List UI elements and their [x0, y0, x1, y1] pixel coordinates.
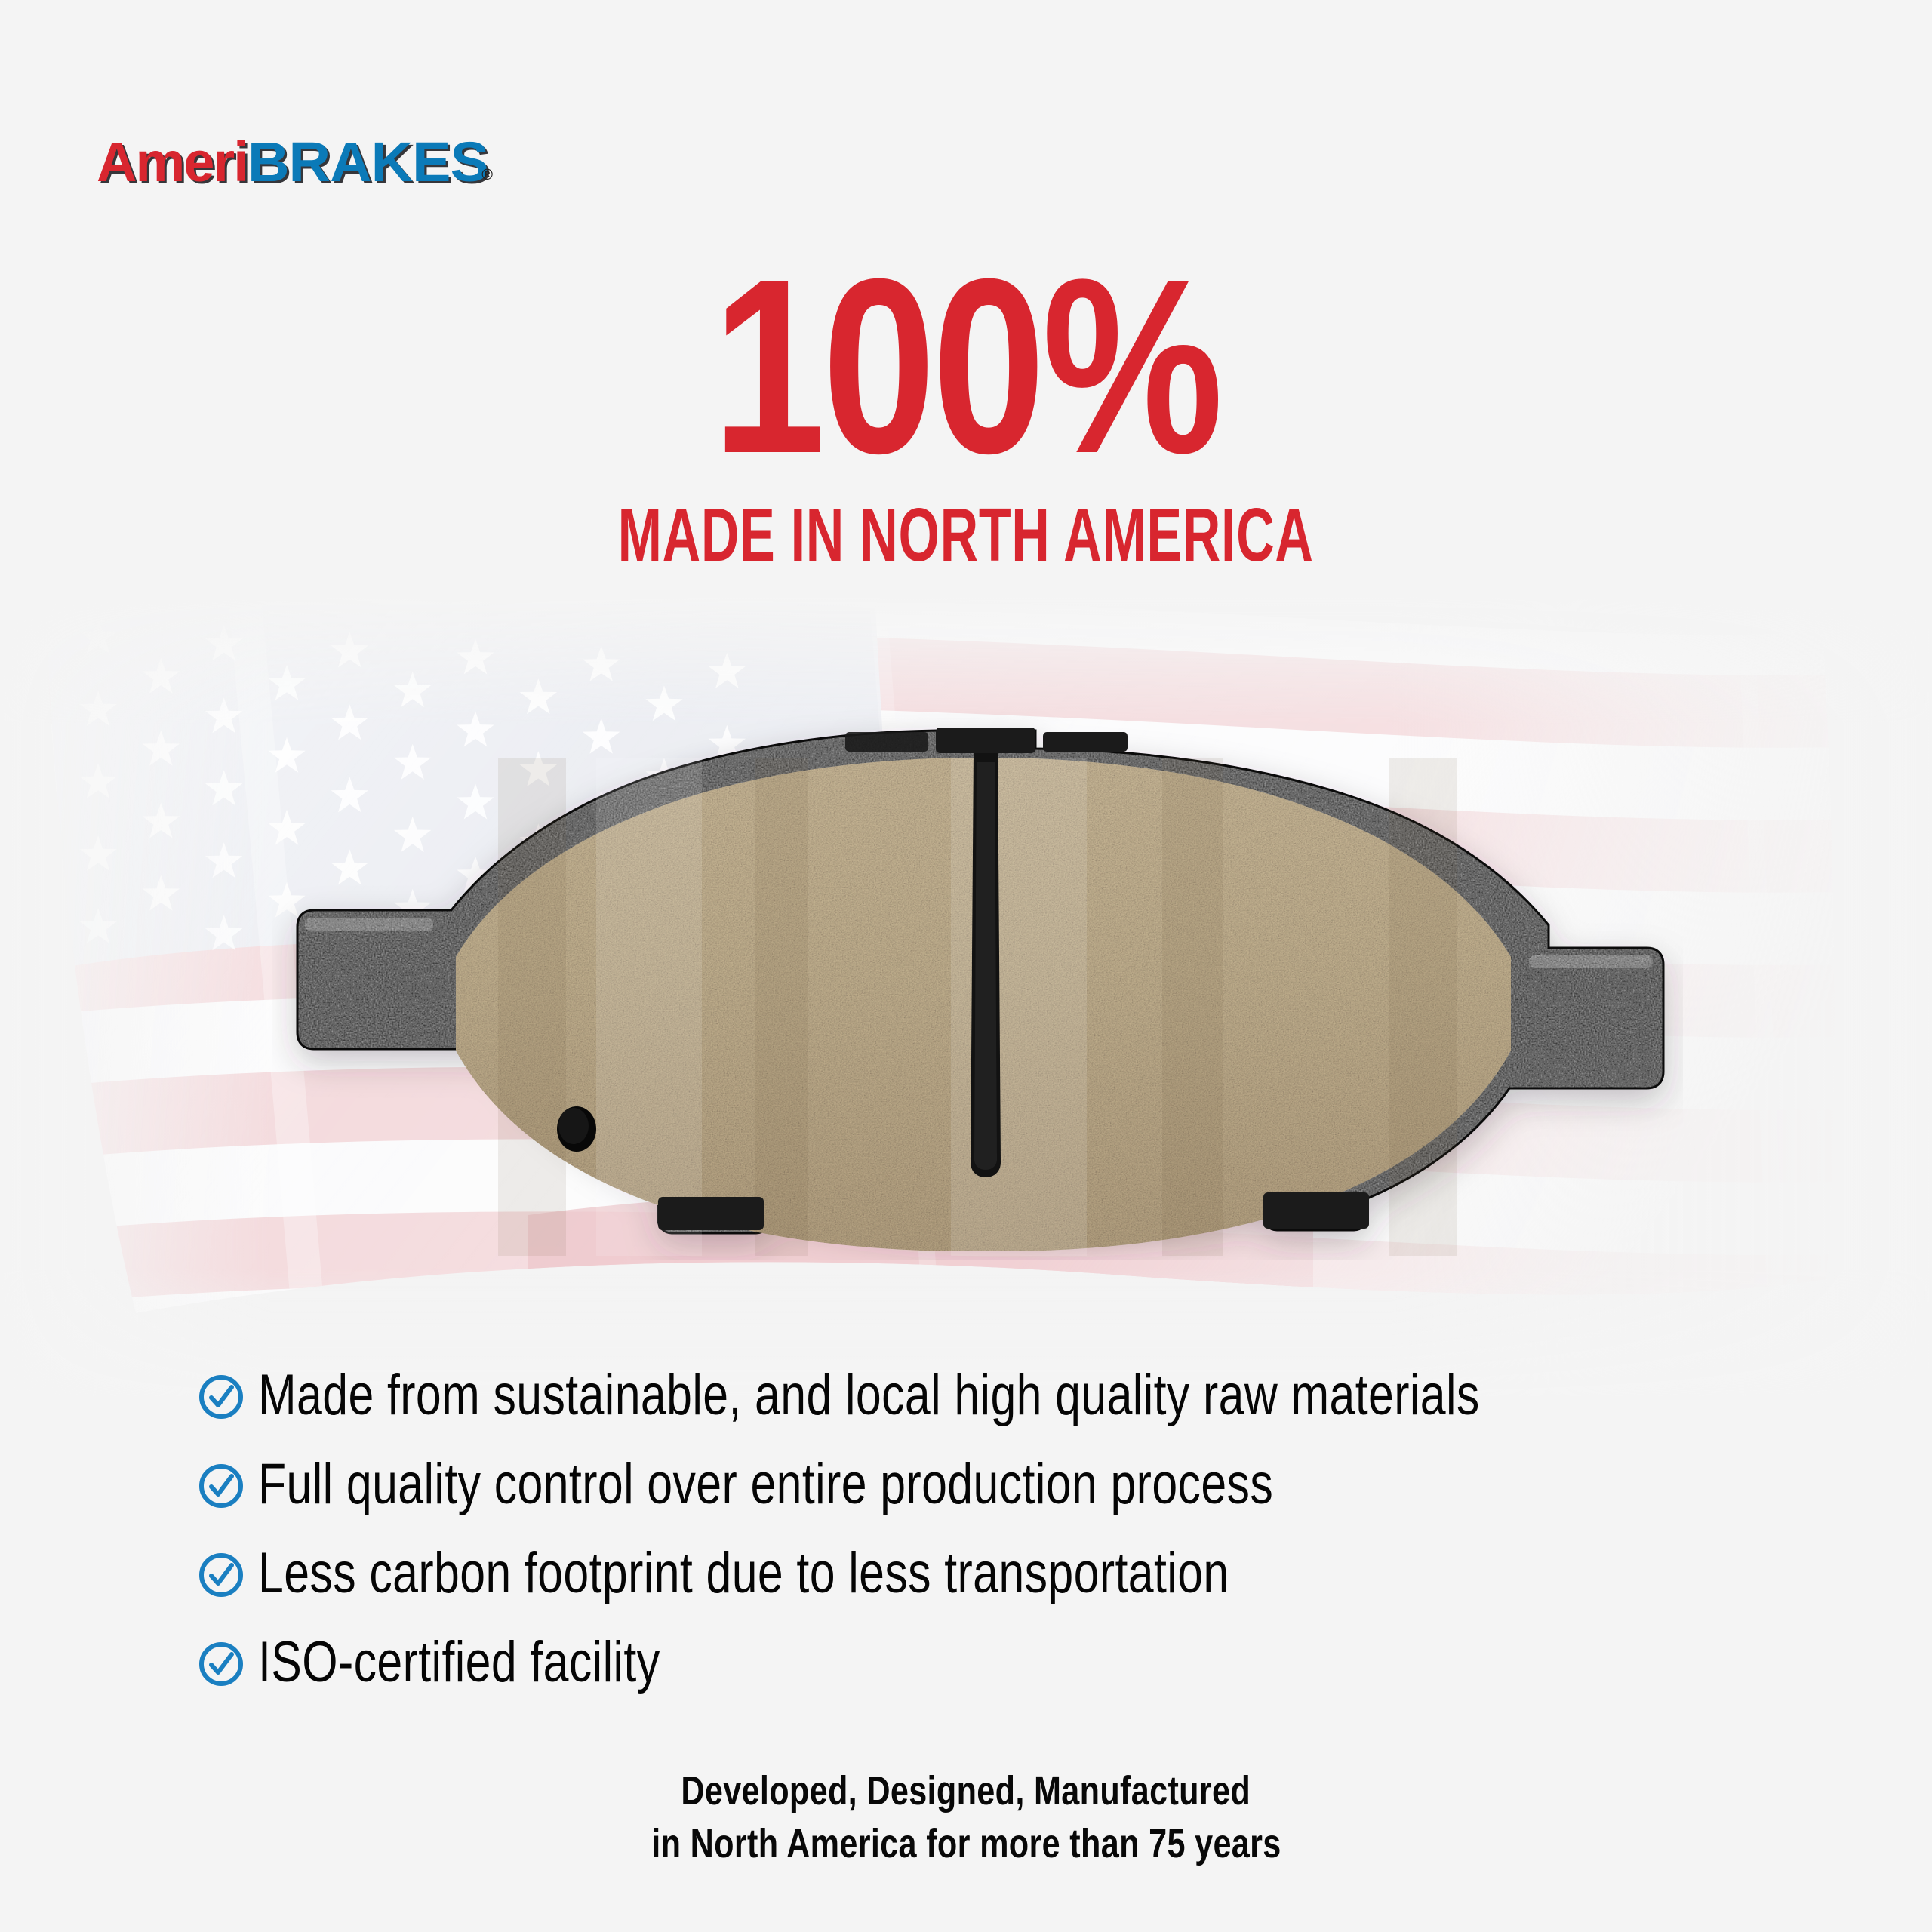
footer-line-2-wrap: in North America for more than 75 years: [0, 1817, 1932, 1870]
check-circle-icon: [198, 1641, 245, 1687]
list-item-label: Made from sustainable, and local high qu…: [258, 1365, 1480, 1426]
headline-subtitle: MADE IN NORTH AMERICA: [618, 496, 1314, 574]
check-circle-icon: [198, 1552, 245, 1598]
headline-percent: 100%: [712, 253, 1220, 479]
check-circle-icon: [198, 1463, 245, 1509]
brand-logo-ameri: Ameri: [97, 132, 248, 192]
check-circle-icon: [198, 1374, 245, 1420]
footer-line-1-wrap: Developed, Designed, Manufactured: [0, 1764, 1932, 1817]
list-item: Made from sustainable, and local high qu…: [198, 1351, 1767, 1440]
product-infographic-canvas: Ameri BRAKES ® 100% MADE IN NORTH AMERIC…: [0, 0, 1932, 1932]
list-item: ISO-certified facility: [198, 1618, 1767, 1707]
headline-percent-wrap: 100%: [0, 253, 1932, 479]
footer-note: Developed, Designed, Manufactured in Nor…: [0, 1764, 1932, 1870]
brand-logo[interactable]: Ameri BRAKES ®: [97, 132, 493, 192]
brand-logo-brakes: BRAKES: [248, 132, 488, 192]
list-item-label: ISO-certified facility: [258, 1632, 660, 1693]
headline-block: 100% MADE IN NORTH AMERICA: [0, 253, 1932, 574]
list-item: Less carbon footprint due to less transp…: [198, 1529, 1767, 1618]
headline-subtitle-wrap: MADE IN NORTH AMERICA: [0, 479, 1932, 574]
benefits-list: Made from sustainable, and local high qu…: [198, 1351, 1767, 1707]
list-item: Full quality control over entire product…: [198, 1440, 1767, 1529]
footer-line-1: Developed, Designed, Manufactured: [681, 1764, 1251, 1817]
list-item-label: Full quality control over entire product…: [258, 1454, 1273, 1515]
brake-pad-icon: [272, 709, 1683, 1260]
footer-line-2: in North America for more than 75 years: [651, 1817, 1281, 1870]
list-item-label: Less carbon footprint due to less transp…: [258, 1543, 1229, 1604]
registered-trademark-icon: ®: [481, 167, 493, 184]
